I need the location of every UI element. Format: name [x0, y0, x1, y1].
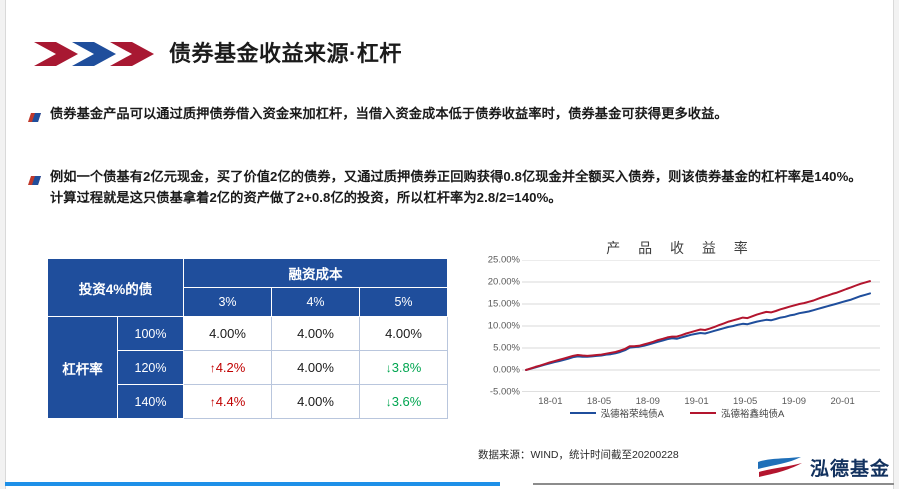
y-tick-label: -5.00% — [490, 387, 520, 398]
table-cell-1-1: 4.00% — [272, 351, 360, 385]
logo-text: 泓德基金 — [810, 460, 890, 479]
table-cell-0-2: 4.00% — [360, 317, 448, 351]
table-cell-0-0: 4.00% — [184, 317, 272, 351]
legend-label-1: 泓德裕鑫纯债A — [721, 406, 784, 420]
chart-y-axis: -5.00%0.00%5.00%10.00%15.00%20.00%25.00% — [470, 260, 522, 392]
red-blue-parallelogram-icon — [28, 172, 41, 209]
cell-value: 4.00% — [297, 326, 334, 341]
chart-series-line — [526, 293, 870, 370]
company-logo: 泓德基金 — [757, 456, 890, 483]
chart-legend: 泓德裕荣纯债A 泓德裕鑫纯债A — [470, 406, 884, 420]
table-cell-2-2: ↓3.6% — [360, 385, 448, 419]
leverage-table-wrap: 投资4%的债 融资成本 3% 4% 5% 杠杆率 100% 4.00% 4.00… — [47, 258, 447, 419]
table-corner-label: 投资4%的债 — [48, 259, 184, 317]
y-tick-label: 5.00% — [493, 343, 520, 354]
bullet-paragraph-1: 债券基金产品可以通过质押债券借入资金来加杠杆，当借入资金成本低于债券收益率时，债… — [28, 103, 874, 127]
cell-value: 4.4% — [216, 394, 246, 409]
table-cell-1-2: ↓3.8% — [360, 351, 448, 385]
table-header-row-1: 投资4%的债 融资成本 — [48, 259, 448, 288]
y-tick-label: 15.00% — [488, 299, 520, 310]
table-col-header-1: 4% — [272, 288, 360, 317]
table-cell-1-0: ↑4.2% — [184, 351, 272, 385]
footer-grey-bar — [533, 483, 894, 485]
performance-chart: 产 品 收 益 率 -5.00%0.00%5.00%10.00%15.00%20… — [470, 238, 884, 438]
legend-swatch-1 — [690, 412, 716, 414]
table-col-header-2: 5% — [360, 288, 448, 317]
cell-value: 4.2% — [216, 360, 246, 375]
cell-value: 4.00% — [385, 326, 422, 341]
cell-value: 3.6% — [392, 394, 422, 409]
slide-title-row: 债券基金收益来源·杠杆 — [34, 40, 402, 68]
slide-right-edge — [893, 0, 899, 489]
slide-root: 债券基金收益来源·杠杆 债券基金产品可以通过质押债券借入资金来加杠杆，当借入资金… — [0, 0, 899, 489]
chart-plot-area: -5.00%0.00%5.00%10.00%15.00%20.00%25.00%… — [470, 260, 884, 410]
leverage-table: 投资4%的债 融资成本 3% 4% 5% 杠杆率 100% 4.00% 4.00… — [47, 258, 448, 419]
chart-svg — [522, 260, 880, 392]
table-row-group-label: 杠杆率 — [48, 317, 118, 419]
table-row-leverage-0: 100% — [118, 317, 184, 351]
chart-title: 产 品 收 益 率 — [470, 238, 884, 258]
cell-value: 4.00% — [297, 360, 334, 375]
y-tick-label: 0.00% — [493, 365, 520, 376]
bullet-paragraph-2: 例如一个债基有2亿元现金，买了价值2亿的债券，又通过质押债券正回购获得0.8亿现… — [28, 166, 874, 209]
table-row-leverage-2: 140% — [118, 385, 184, 419]
table-row: 杠杆率 100% 4.00% 4.00% 4.00% — [48, 317, 448, 351]
table-row-leverage-1: 120% — [118, 351, 184, 385]
table-col-header-0: 3% — [184, 288, 272, 317]
legend-label-0: 泓德裕荣纯债A — [601, 406, 664, 420]
footer-accent-bar — [5, 482, 500, 486]
chevron-group-icon — [34, 40, 156, 68]
table-group-header: 融资成本 — [184, 259, 448, 288]
chart-gridlines — [522, 260, 880, 392]
bullet-text-1: 债券基金产品可以通过质押债券借入资金来加杠杆，当借入资金成本低于债券收益率时，债… — [50, 103, 728, 127]
legend-swatch-0 — [570, 412, 596, 414]
cell-value: 3.8% — [392, 360, 422, 375]
page-title: 债券基金收益来源·杠杆 — [169, 43, 402, 65]
legend-item-0: 泓德裕荣纯债A — [570, 406, 664, 420]
legend-item-1: 泓德裕鑫纯债A — [690, 406, 784, 420]
chart-source-note: 数据来源：WIND，统计时间截至20200228 — [478, 447, 679, 462]
cell-value: 4.00% — [209, 326, 246, 341]
table-cell-2-0: ↑4.4% — [184, 385, 272, 419]
red-blue-parallelogram-icon — [28, 109, 41, 127]
y-tick-label: 10.00% — [488, 321, 520, 332]
table-cell-0-1: 4.00% — [272, 317, 360, 351]
y-tick-label: 20.00% — [488, 277, 520, 288]
cell-value: 4.00% — [297, 394, 334, 409]
y-tick-label: 25.00% — [488, 255, 520, 266]
hongde-swoosh-icon — [757, 456, 803, 483]
table-cell-2-1: 4.00% — [272, 385, 360, 419]
bullet-text-2: 例如一个债基有2亿元现金，买了价值2亿的债券，又通过质押债券正回购获得0.8亿现… — [50, 166, 874, 209]
slide-left-edge — [0, 0, 6, 489]
